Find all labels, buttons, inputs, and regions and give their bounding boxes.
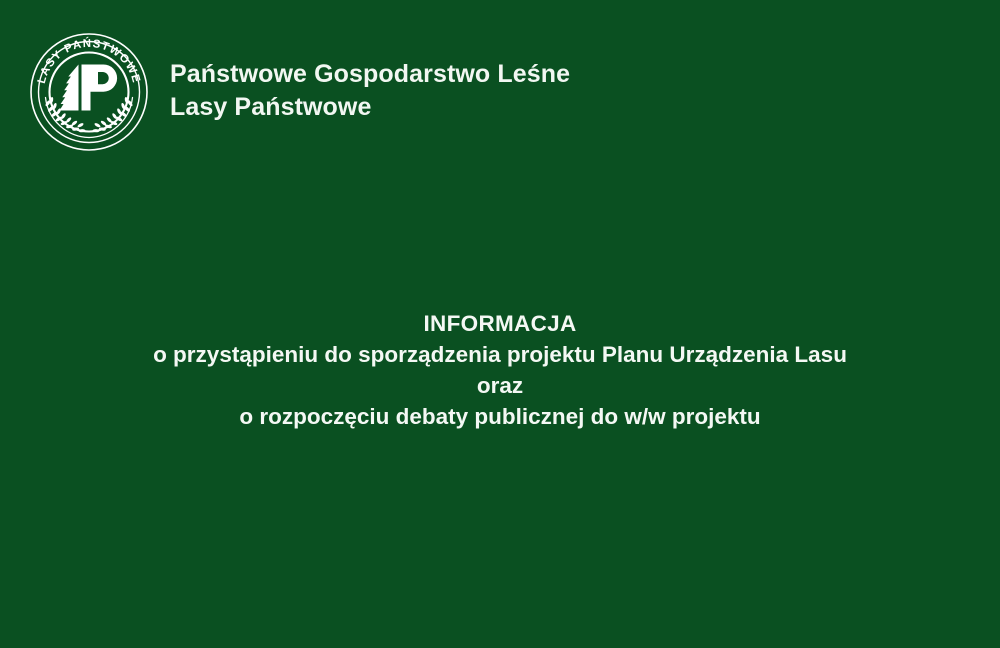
announcement-block: INFORMACJA o przystąpieniu do sporządzen… xyxy=(0,308,1000,432)
organization-name: Państwowe Gospodarstwo Leśne Lasy Państw… xyxy=(170,58,870,124)
slide-root: LASY PAŃSTWOWE xyxy=(0,0,1000,648)
page-header: LASY PAŃSTWOWE xyxy=(0,0,1000,170)
announcement-line-2: oraz xyxy=(0,370,1000,401)
organization-name-line-1: Państwowe Gospodarstwo Leśne xyxy=(170,58,870,91)
lasy-panstwowe-emblem-icon: LASY PAŃSTWOWE xyxy=(28,31,150,153)
announcement-heading: INFORMACJA xyxy=(0,308,1000,339)
announcement-line-1: o przystąpieniu do sporządzenia projektu… xyxy=(0,339,1000,370)
organization-name-line-2: Lasy Państwowe xyxy=(170,91,870,124)
announcement-line-3: o rozpoczęciu debaty publicznej do w/w p… xyxy=(0,401,1000,432)
